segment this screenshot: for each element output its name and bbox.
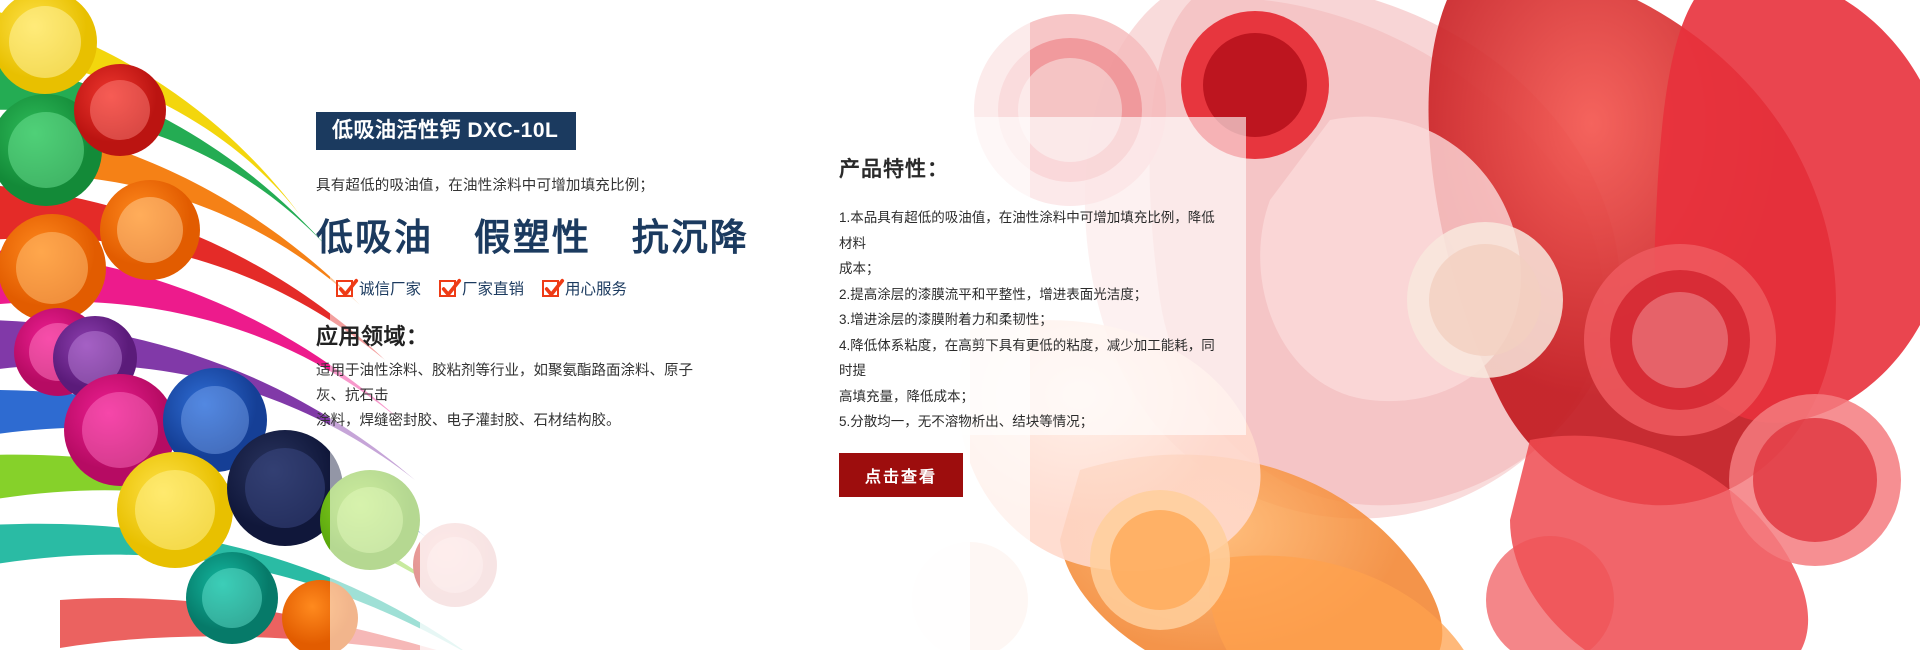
trust-badge-1: 诚信厂家 [336, 277, 421, 299]
trust-badge-2: 厂家直销 [439, 277, 524, 299]
features-list: 1.本品具有超低的吸油值，在油性涂料中可增加填充比例，降低材料 成本； 2.提高… [839, 205, 1220, 435]
feature-line-2: 成本； [839, 256, 1220, 282]
product-title-badge: 低吸油活性钙 DXC-10L [316, 112, 576, 150]
checkbox-check-icon [336, 280, 353, 297]
checkbox-check-icon [439, 280, 456, 297]
feature-line-1: 1.本品具有超低的吸油值，在油性涂料中可增加填充比例，降低材料 [839, 205, 1220, 256]
trust-badge-1-label: 诚信厂家 [359, 277, 421, 299]
application-line-1: 适用于油性涂料、胶粘剂等行业，如聚氨酯路面涂料、原子灰、抗石击 [316, 359, 721, 409]
feature-line-3: 2.提高涂层的漆膜流平和平整性，增进表面光洁度； [839, 282, 1220, 308]
feature-line-5: 4.降低体系粘度，在高剪下具有更低的粘度，减少加工能耗，同时提 [839, 333, 1220, 384]
application-body: 适用于油性涂料、胶粘剂等行业，如聚氨酯路面涂料、原子灰、抗石击 涂料，焊缝密封胶… [316, 359, 721, 434]
keyword-row: 低吸油 假塑性 抗沉降 [316, 207, 736, 261]
feature-line-4: 3.增进涂层的漆膜附着力和柔韧性； [839, 307, 1220, 333]
keyword-3: 抗沉降 [632, 215, 749, 259]
keyword-1: 低吸油 [316, 215, 433, 259]
product-features-panel: 产品特性： 1.本品具有超低的吸油值，在油性涂料中可增加填充比例，降低材料 成本… [803, 117, 1246, 435]
product-banner: 低吸油活性钙 DXC-10L 具有超低的吸油值，在油性涂料中可增加填充比例； 低… [0, 0, 1920, 650]
application-heading: 应用领域： [316, 319, 736, 351]
trust-badge-3: 用心服务 [542, 277, 627, 299]
feature-line-6: 高填充量，降低成本； [839, 384, 1220, 410]
trust-badge-3-label: 用心服务 [565, 277, 627, 299]
view-details-button[interactable]: 点击查看 [839, 453, 963, 497]
product-subtitle: 具有超低的吸油值，在油性涂料中可增加填充比例； [316, 174, 736, 195]
trust-badge-2-label: 厂家直销 [462, 277, 524, 299]
keyword-2: 假塑性 [474, 215, 591, 259]
features-panel-title: 产品特性： [839, 153, 1220, 183]
left-copy-column: 低吸油活性钙 DXC-10L 具有超低的吸油值，在油性涂料中可增加填充比例； 低… [316, 112, 736, 434]
feature-line-7: 5.分散均一，无不溶物析出、结块等情况； [839, 409, 1220, 435]
trust-badge-row: 诚信厂家 厂家直销 用心服务 [336, 277, 736, 299]
checkbox-check-icon [542, 280, 559, 297]
application-line-2: 涂料，焊缝密封胶、电子灌封胶、石材结构胶。 [316, 409, 721, 434]
